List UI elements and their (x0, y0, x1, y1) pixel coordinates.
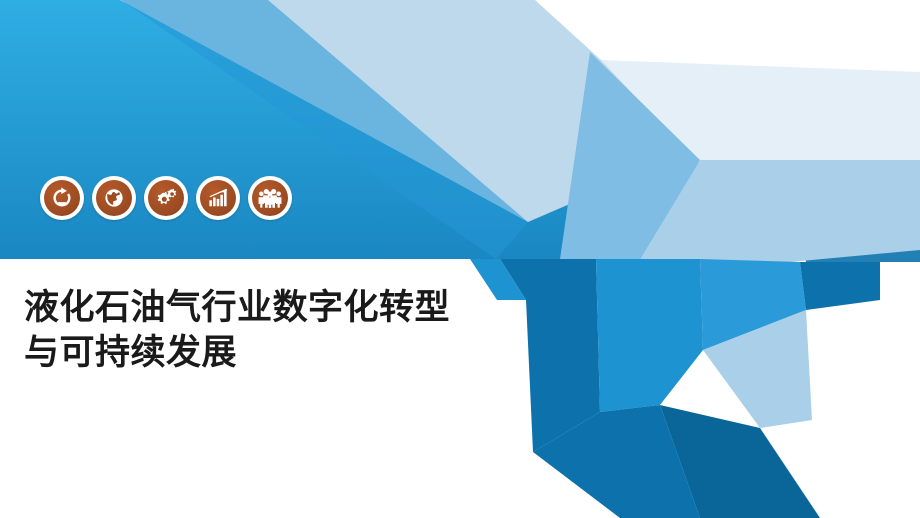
icon-inner (252, 180, 288, 216)
icon-strip (40, 176, 292, 220)
gears-icon (154, 186, 178, 210)
title-line-1: 液化石油气行业数字化转型 (24, 286, 564, 331)
icon-badge-gears[interactable] (144, 176, 188, 220)
recycle-arrow-icon (51, 187, 73, 209)
tagline-text: 数智创新 变革未来 (721, 28, 896, 57)
icon-inner (96, 180, 132, 216)
icon-inner (148, 180, 184, 216)
icon-badge-globe[interactable] (92, 176, 136, 220)
slide-canvas: 数智创新 变革未来 (0, 0, 920, 518)
globe-icon (103, 187, 125, 209)
icon-badge-recycle[interactable] (40, 176, 84, 220)
icon-badge-bar-chart[interactable] (196, 176, 240, 220)
title-line-2: 与可持续发展 (24, 331, 564, 376)
page-title: 液化石油气行业数字化转型 与可持续发展 (24, 286, 564, 376)
icon-badge-people[interactable] (248, 176, 292, 220)
icon-inner (44, 180, 80, 216)
icon-inner (200, 180, 236, 216)
bar-chart-icon (207, 187, 229, 209)
background-artwork (0, 0, 920, 518)
people-group-icon (258, 187, 282, 209)
